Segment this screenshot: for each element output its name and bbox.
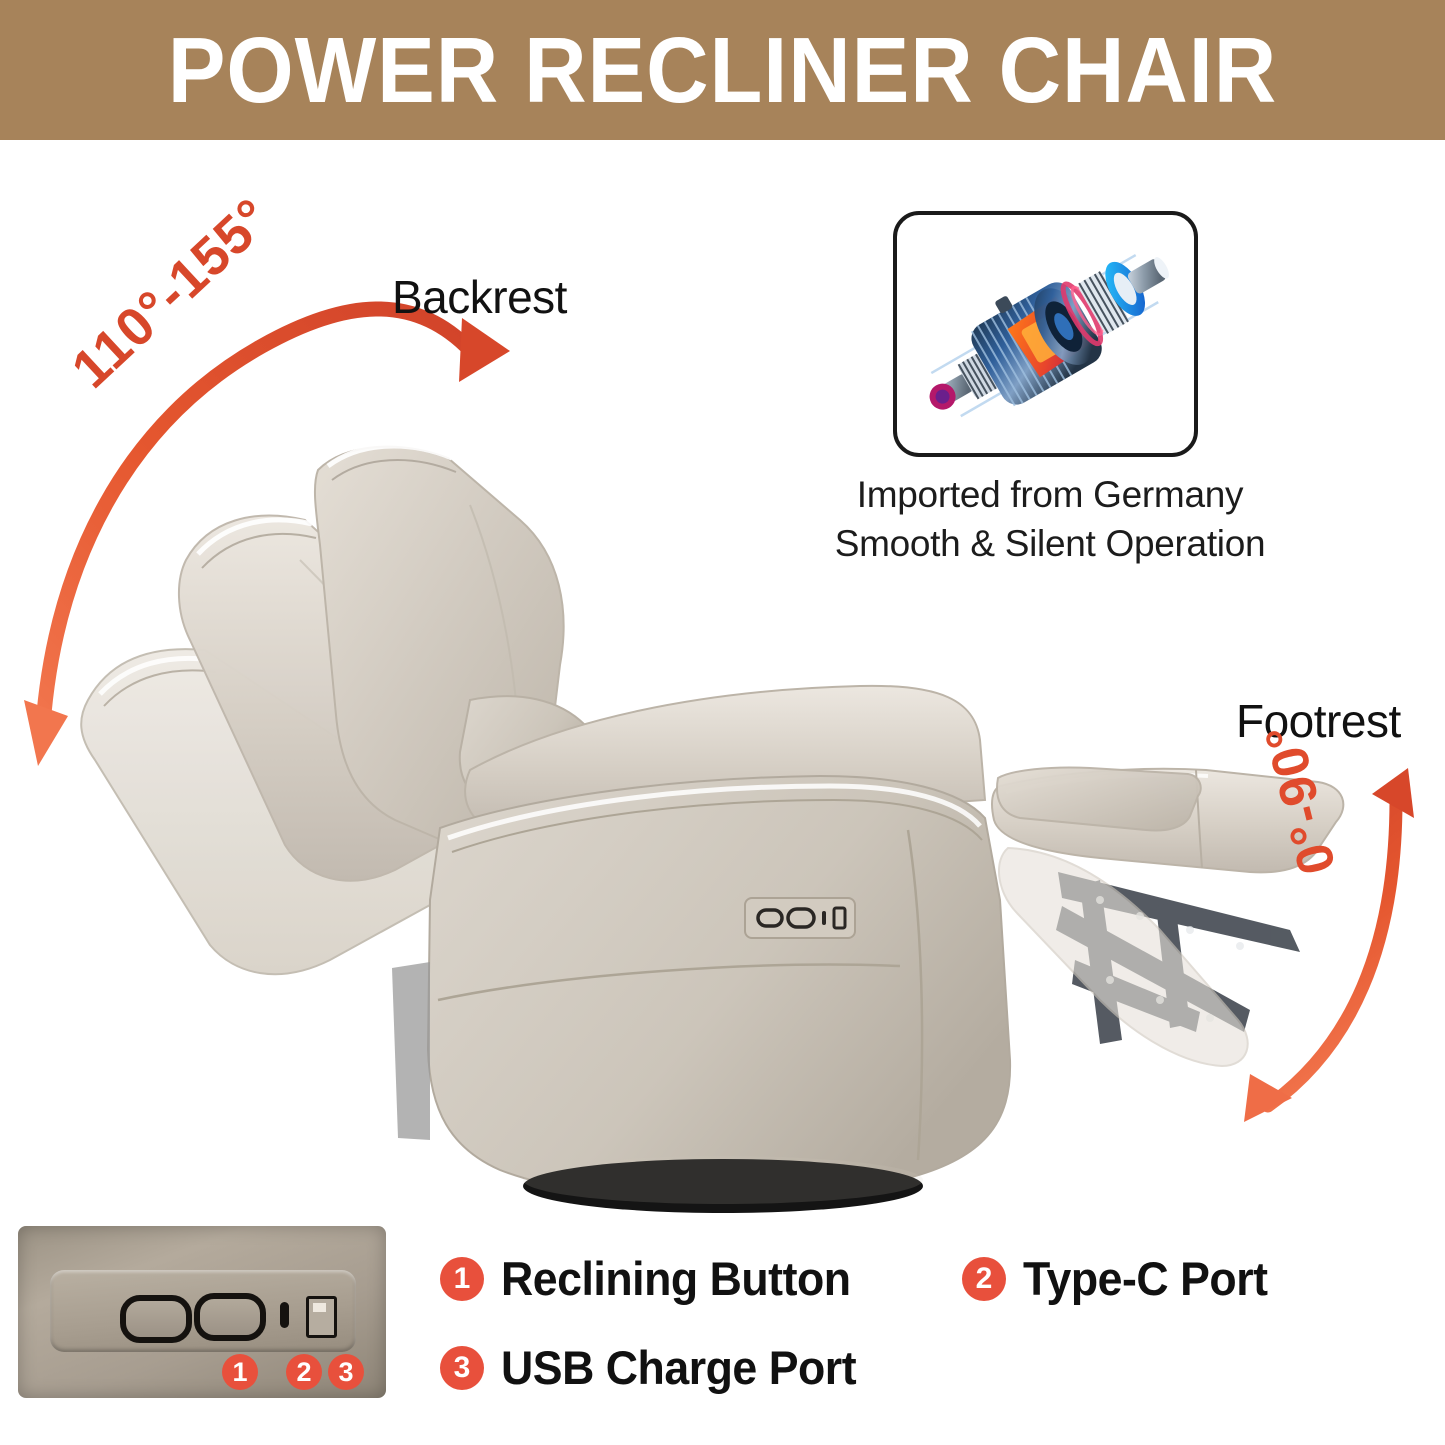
chair-side-control-panel (745, 898, 855, 938)
legend-label-2: Type-C Port (1023, 1251, 1268, 1306)
legend-badge-1: 1 (440, 1257, 484, 1301)
panel-badge-2: 2 (286, 1354, 322, 1390)
under-seat-shadow (392, 962, 430, 1140)
legend-item-reclining-button: 1 Reclining Button (440, 1251, 869, 1306)
footrest-panel-inner (997, 767, 1201, 830)
motor-inset-card (893, 211, 1198, 457)
motor-caption: Imported from Germany Smooth & Silent Op… (790, 470, 1310, 568)
legend-item-usb-charge-port: 3 USB Charge Port (440, 1340, 875, 1395)
legend-item-type-c-port: 2 Type-C Port (962, 1251, 1280, 1306)
seat-cushion (465, 686, 985, 832)
reclining-pill-button-right[interactable] (194, 1293, 266, 1341)
footrest-mechanism (1056, 872, 1300, 1044)
legend-label-3: USB Charge Port (501, 1340, 856, 1395)
backrest-main (315, 446, 564, 852)
footrest-ghost-position (999, 848, 1248, 1066)
legend-badge-2: 2 (962, 1257, 1006, 1301)
control-panel-photo: 1 2 3 (18, 1226, 386, 1398)
chair-side-body (428, 776, 1010, 1200)
panel-badge-3: 3 (328, 1354, 364, 1390)
reclining-pill-button-left[interactable] (120, 1295, 192, 1343)
type-c-port-icon (280, 1302, 289, 1328)
header-banner: POWER RECLINER CHAIR (0, 0, 1445, 140)
backrest-ghost-position-1 (81, 649, 460, 974)
backrest-hinge-cushion (460, 696, 603, 812)
legend-badge-3: 3 (440, 1346, 484, 1390)
legend-label-1: Reclining Button (501, 1251, 851, 1306)
electric-motor-icon (897, 215, 1194, 453)
panel-badge-1: 1 (222, 1354, 258, 1390)
backrest-angle-label: 110°-155° (60, 186, 283, 400)
usb-a-port-icon (306, 1296, 337, 1338)
motor-caption-line-2: Smooth & Silent Operation (790, 519, 1310, 568)
swivel-base (523, 1159, 923, 1213)
backrest-ghost-position-2 (179, 516, 533, 881)
page-title: POWER RECLINER CHAIR (168, 24, 1277, 117)
backrest-label: Backrest (392, 270, 567, 324)
motor-caption-line-1: Imported from Germany (790, 470, 1310, 519)
